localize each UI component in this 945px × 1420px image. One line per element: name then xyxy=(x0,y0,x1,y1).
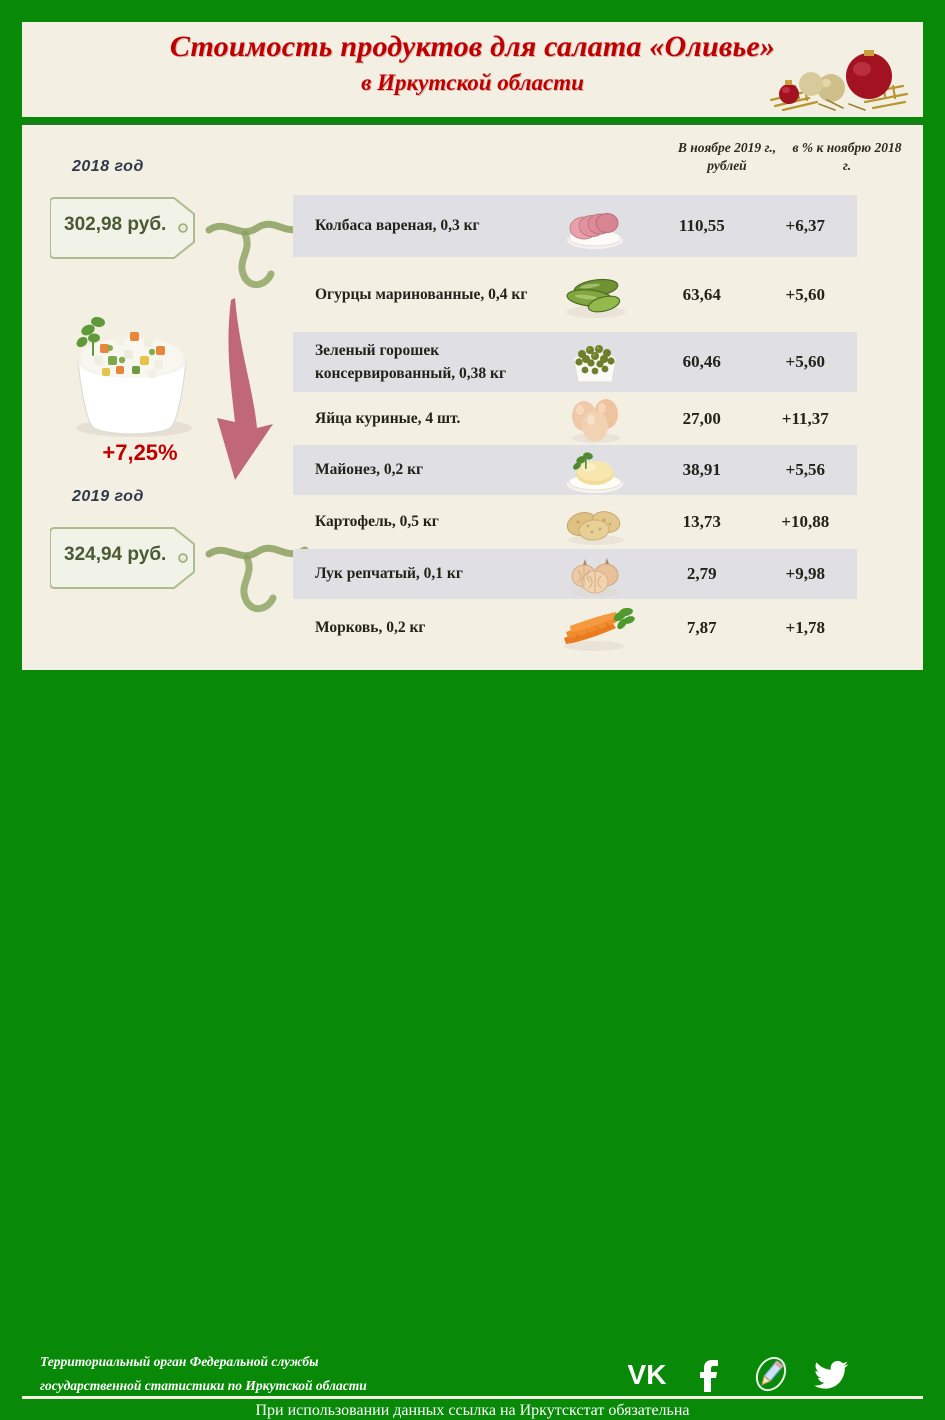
product-name: Картофель, 0,5 кг xyxy=(293,510,540,533)
product-table: Колбаса вареная, 0,3 кг 110,55+6,37Огурц… xyxy=(0,0,901,545)
product-name: Лук репчатый, 0,1 кг xyxy=(293,562,540,585)
product-price: 27,00 xyxy=(650,409,753,429)
carrots-icon xyxy=(540,604,650,652)
onions-icon xyxy=(540,550,650,598)
twitter-icon[interactable] xyxy=(811,1354,855,1394)
table-row: Зеленый горошек консервированный, 0,38 к… xyxy=(293,332,857,392)
product-price: 13,73 xyxy=(650,512,753,532)
vk-icon[interactable]: VK xyxy=(625,1354,669,1394)
infographic-poster: Стоимость продуктов для салата «Оливье» … xyxy=(0,0,945,756)
svg-text:VK: VK xyxy=(628,1359,667,1390)
potatoes-icon xyxy=(540,498,650,546)
footer: Территориальный орган Федеральной службы… xyxy=(0,672,945,756)
product-price: 7,87 xyxy=(650,618,753,638)
sausage-slices-icon xyxy=(540,202,650,250)
product-price: 110,55 xyxy=(650,216,753,236)
footer-disclaimer: При использовании данных ссылка на Иркут… xyxy=(0,1402,945,1420)
table-row: Майонез, 0,2 кг 38,91+5,56 xyxy=(293,445,857,495)
livejournal-icon[interactable] xyxy=(749,1354,793,1394)
organization-line-2: государственной статистики по Иркутской … xyxy=(40,1378,367,1394)
footer-divider xyxy=(22,1396,923,1399)
organization-line-1: Территориальный орган Федеральной службы xyxy=(40,1354,319,1370)
table-row: Огурцы маринованные, 0,4 кг 63,64+5,60 xyxy=(293,260,857,330)
social-links: VK xyxy=(625,1354,875,1394)
product-price: 38,91 xyxy=(650,460,753,480)
product-percent-change: +10,88 xyxy=(754,512,857,532)
product-percent-change: +5,60 xyxy=(754,285,857,305)
green-peas-icon xyxy=(540,336,650,388)
product-name: Колбаса вареная, 0,3 кг xyxy=(293,214,540,237)
product-price: 63,64 xyxy=(650,285,753,305)
product-name: Яйца куриные, 4 шт. xyxy=(293,407,540,430)
table-row: Картофель, 0,5 кг 13,73+10,88 xyxy=(293,496,857,548)
eggs-icon xyxy=(540,394,650,444)
pickles-icon xyxy=(540,270,650,320)
table-row: Морковь, 0,2 кг 7,87+1,78 xyxy=(293,600,857,655)
product-percent-change: +9,98 xyxy=(754,564,857,584)
product-name: Зеленый горошек консервированный, 0,38 к… xyxy=(293,339,540,386)
table-row: Яйца куриные, 4 шт. 27,00+11,37 xyxy=(293,394,857,444)
product-price: 2,79 xyxy=(650,564,753,584)
product-percent-change: +5,56 xyxy=(754,460,857,480)
product-name: Морковь, 0,2 кг xyxy=(293,616,540,639)
table-row: Лук репчатый, 0,1 кг 2,79+9,98 xyxy=(293,549,857,599)
price-tag-2019-value: 324,94 руб. xyxy=(64,544,204,566)
product-name: Майонез, 0,2 кг xyxy=(293,458,540,481)
product-percent-change: +11,37 xyxy=(754,409,857,429)
product-price: 60,46 xyxy=(650,352,753,372)
table-row: Колбаса вареная, 0,3 кг 110,55+6,37 xyxy=(293,195,857,257)
mayonnaise-icon xyxy=(540,446,650,494)
product-percent-change: +5,60 xyxy=(754,352,857,372)
facebook-icon[interactable] xyxy=(687,1354,731,1394)
product-percent-change: +6,37 xyxy=(754,216,857,236)
product-name: Огурцы маринованные, 0,4 кг xyxy=(293,283,540,306)
product-percent-change: +1,78 xyxy=(754,618,857,638)
